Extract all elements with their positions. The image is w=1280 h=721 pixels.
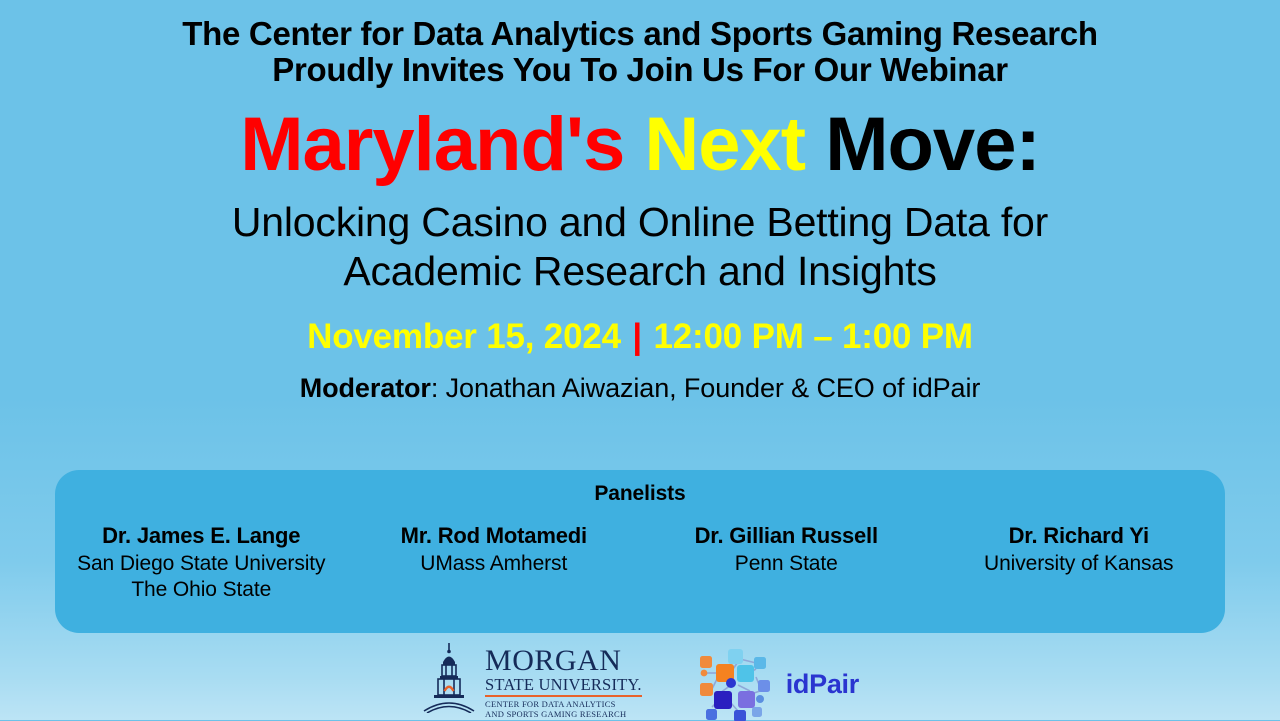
webinar-poster: The Center for Data Analytics and Sports… [0,0,1280,720]
subtitle-line-2: Academic Research and Insights [0,247,1280,295]
panelist-name: Mr. Rod Motamedi [354,522,635,551]
event-date: November 15, 2024 [307,317,621,356]
panelists-card: Panelists Dr. James E. Lange San Diego S… [55,470,1225,633]
morgan-state-divider [485,695,642,697]
panelist-affiliation: University of Kansas [939,551,1220,578]
list-item: Dr. Gillian Russell Penn State [640,522,933,604]
idpair-network-icon [690,647,780,721]
invite-line-1: The Center for Data Analytics and Sports… [0,16,1280,52]
panelist-name: Dr. Richard Yi [939,522,1220,551]
center-name-line-2: AND SPORTS GAMING RESEARCH [485,709,642,720]
invite-line-2: Proudly Invites You To Join Us For Our W… [0,52,1280,88]
morgan-state-wordmark: MORGAN STATE UNIVERSITY. CENTER FOR DATA… [485,641,642,720]
panelist-name: Dr. Gillian Russell [646,522,927,551]
list-item: Dr. James E. Lange San Diego State Unive… [55,522,348,604]
university-tower-icon [421,641,477,713]
title-part-maryland: Maryland's [240,102,624,187]
panelists-list: Dr. James E. Lange San Diego State Unive… [55,522,1225,604]
panelist-affiliation-secondary: The Ohio State [61,577,342,604]
subtitle-line-1: Unlocking Casino and Online Betting Data… [0,198,1280,246]
moderator-line: Moderator: Jonathan Aiwazian, Founder & … [0,373,1280,404]
title-part-next: Next [644,102,805,187]
page-subtitle: Unlocking Casino and Online Betting Data… [0,198,1280,295]
center-name-line-1: CENTER FOR DATA ANALYTICS [485,699,642,710]
invite-heading: The Center for Data Analytics and Sports… [0,0,1280,89]
idpair-logo: idPair [690,641,859,721]
moderator-value: : Jonathan Aiwazian, Founder & CEO of id… [431,373,980,403]
panelist-affiliation: UMass Amherst [354,551,635,578]
moderator-label: Moderator [300,373,431,403]
panelist-affiliation: San Diego State University [61,551,342,578]
panelist-name: Dr. James E. Lange [61,522,342,551]
datetime-separator: | [630,317,644,356]
morgan-state-logo: MORGAN STATE UNIVERSITY. CENTER FOR DATA… [421,641,642,720]
morgan-state-name-bottom: STATE UNIVERSITY. [485,676,642,693]
list-item: Dr. Richard Yi University of Kansas [933,522,1226,604]
logo-row: MORGAN STATE UNIVERSITY. CENTER FOR DATA… [0,641,1280,721]
morgan-state-name-top: MORGAN [485,647,642,676]
page-title: Maryland's Next Move: [0,105,1280,185]
list-item: Mr. Rod Motamedi UMass Amherst [348,522,641,604]
panelists-heading: Panelists [55,482,1225,506]
event-datetime: November 15, 2024 | 12:00 PM – 1:00 PM [0,317,1280,357]
event-time: 12:00 PM – 1:00 PM [654,317,973,356]
idpair-wordmark: idPair [786,669,859,700]
title-part-move: Move: [825,102,1040,187]
panelist-affiliation: Penn State [646,551,927,578]
